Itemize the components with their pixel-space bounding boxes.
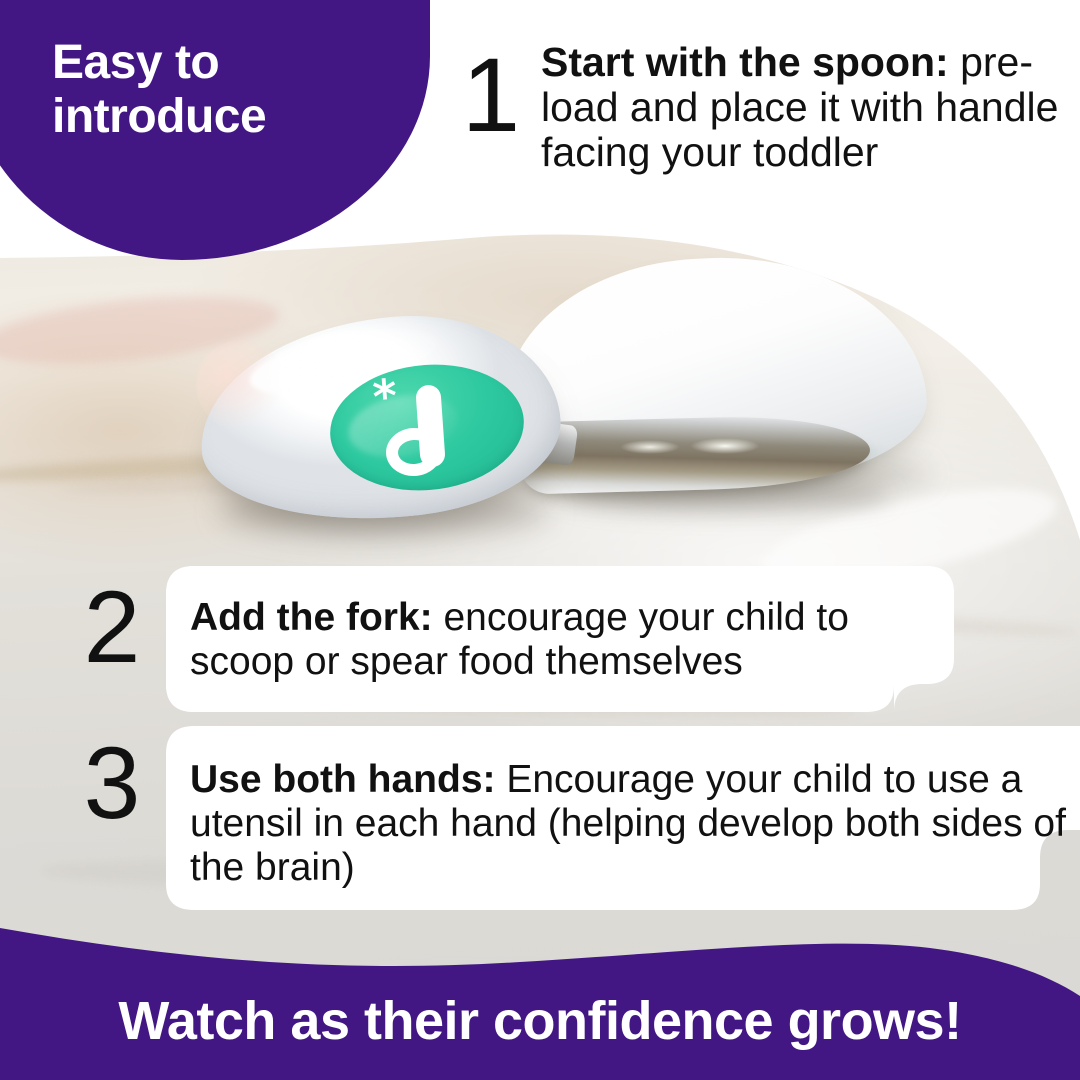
footer-tagline: Watch as their confidence grows! [0, 990, 1080, 1052]
badge-title: Easy to introduce [52, 36, 382, 144]
step-1-body: Start with the spoon: pre-load and place… [541, 34, 1065, 175]
step-3: 3 Use both hands: Encourage your child t… [62, 726, 1080, 916]
step-3-number: 3 [62, 732, 162, 834]
infographic-canvas: * Easy to introduce 1 Start with the spo… [0, 0, 1080, 1080]
step-1: 1 Start with the spoon: pre-load and pla… [455, 34, 1065, 175]
step-1-number: 1 [455, 46, 527, 175]
step-2-heading: Add the fork: [190, 596, 433, 639]
step-2-body: Add the fork: encourage your child to sc… [166, 578, 906, 704]
badge-title-line2: introduce [52, 90, 382, 144]
step-2-number: 2 [62, 576, 162, 678]
badge-title-line1: Easy to [52, 36, 382, 90]
step-3-body: Use both hands: Encourage your child to … [166, 740, 1080, 910]
logo-asterisk-icon: * [372, 380, 408, 416]
spoon-highlight [620, 440, 680, 454]
spoon-highlight [690, 438, 760, 454]
step-2: 2 Add the fork: encourage your child to … [62, 566, 966, 716]
step-3-heading: Use both hands: [190, 758, 496, 801]
step-1-heading: Start with the spoon: [541, 39, 949, 85]
